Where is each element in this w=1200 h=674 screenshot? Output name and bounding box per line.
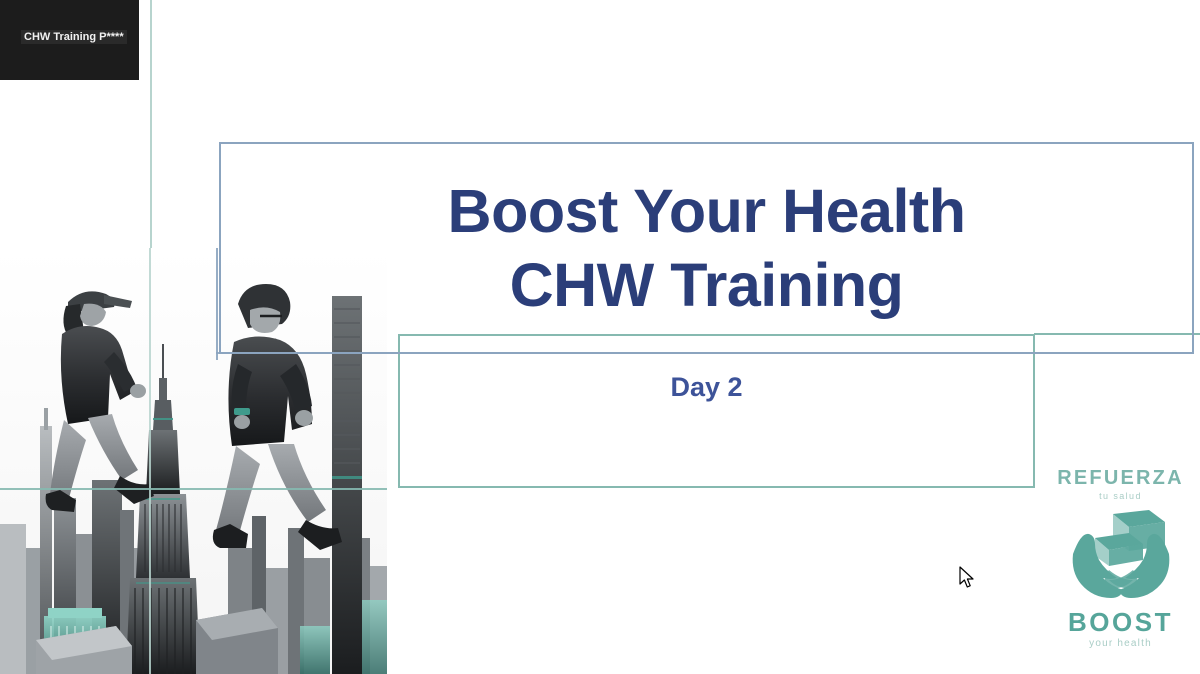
- logo-word-boost: BOOST: [1068, 609, 1173, 635]
- presenter-video-tile[interactable]: CHW Training P****: [0, 0, 139, 80]
- logo-word-refuerza: REFUERZA: [1057, 468, 1184, 488]
- title-line-2: CHW Training: [510, 248, 904, 322]
- logo-tagline-tu-salud: tu salud: [1099, 491, 1142, 501]
- logo-tagline-your-health: your health: [1089, 638, 1152, 649]
- page-title: Boost Your Health CHW Training: [219, 142, 1194, 354]
- hands-holding-steps-icon: [1069, 508, 1173, 605]
- mouse-pointer: [959, 566, 977, 590]
- decorative-teal-frame: [398, 334, 1035, 488]
- presenter-name-label: CHW Training P****: [21, 30, 127, 44]
- slide-subtitle: Day 2: [219, 372, 1194, 403]
- refuerza-boost-logo: REFUERZA tu salud: [1048, 468, 1193, 668]
- presentation-slide: Boost Your Health CHW Training Day 2 REF…: [0, 0, 1200, 674]
- title-line-1: Boost Your Health: [448, 174, 966, 248]
